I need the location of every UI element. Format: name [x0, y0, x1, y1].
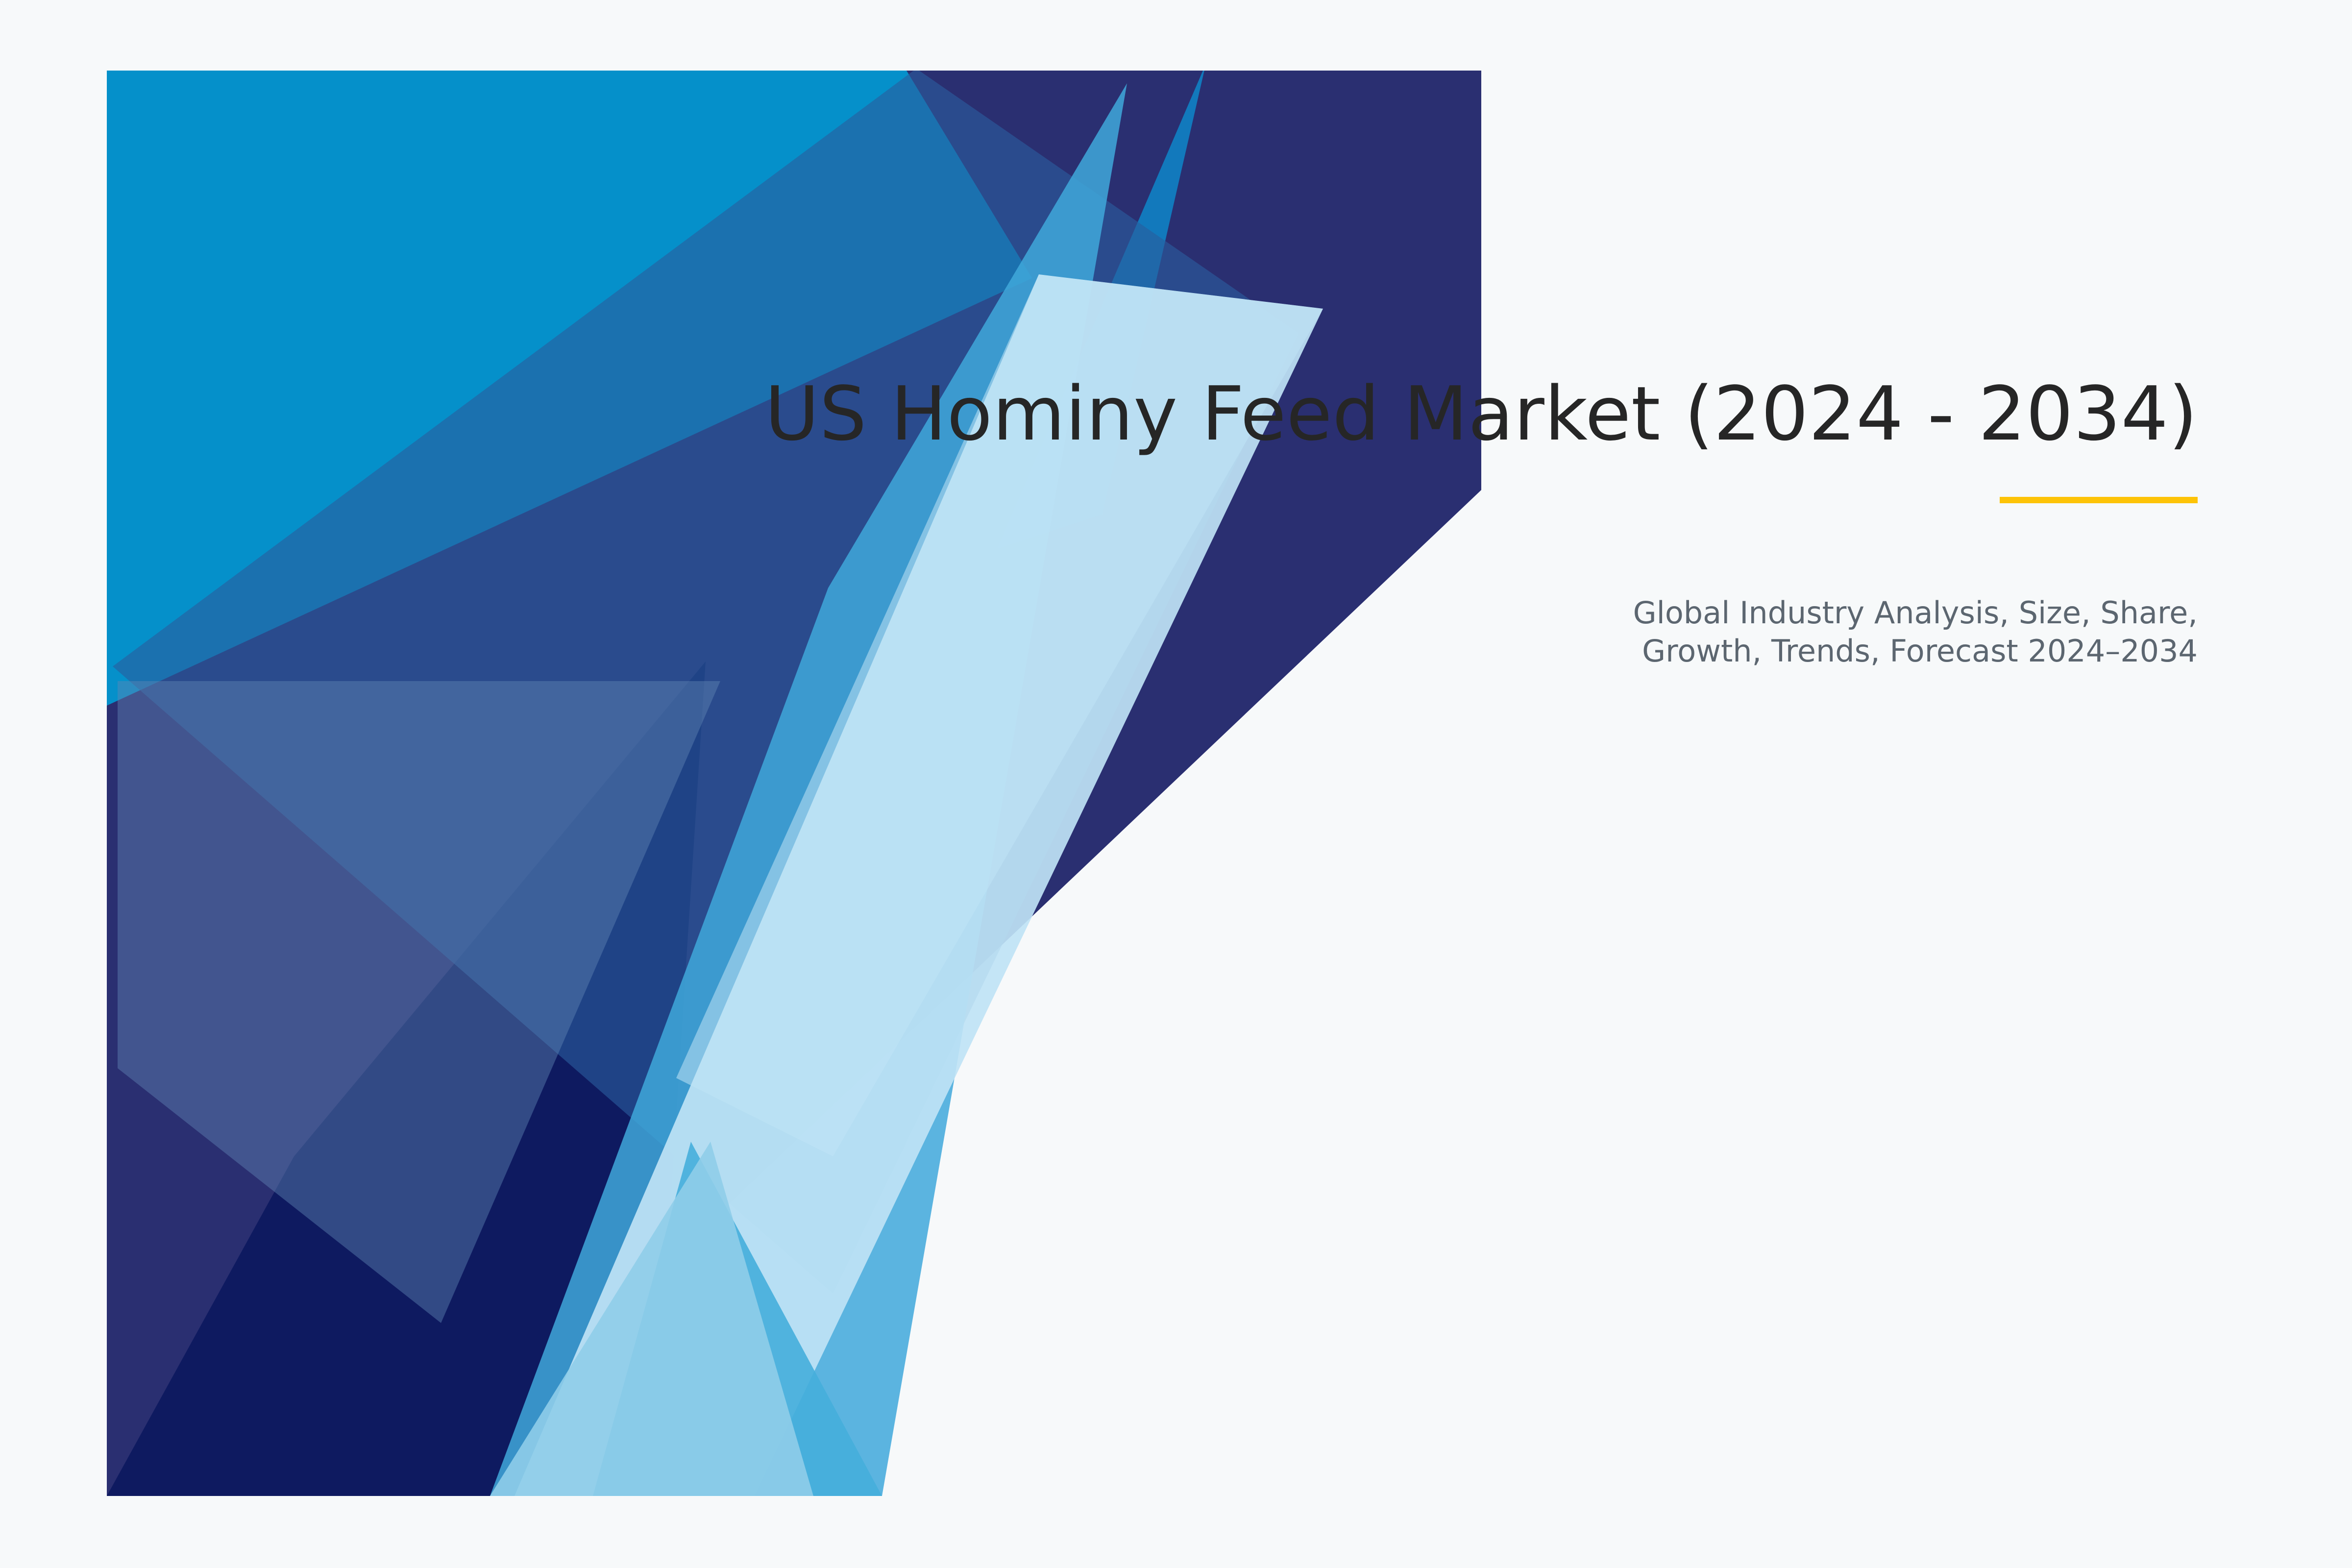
accent-rule [2000, 497, 2198, 503]
shape-navy-band [107, 71, 1481, 1496]
accent-rule-container [735, 497, 2198, 503]
shape-deep-navy-lower [107, 661, 706, 1496]
shape-sky-blue-ribbon [490, 83, 1127, 1496]
page-title: US Hominy Feed Market (2024 - 2034) [735, 372, 2198, 456]
shape-steel-blue-quad [113, 69, 1298, 1294]
shape-navy-top-right [906, 71, 1481, 343]
cover-text-block: US Hominy Feed Market (2024 - 2034) Glob… [735, 372, 2198, 670]
shape-lower-pale-accent [490, 1142, 813, 1496]
shape-steel-overlay-left [118, 681, 720, 1323]
page-subtitle: Global Industry Analysis, Size, Share, G… [1561, 594, 2198, 670]
abstract-geometric-cover-graphic [0, 0, 2352, 1568]
report-cover-slide: US Hominy Feed Market (2024 - 2034) Glob… [0, 0, 2352, 1568]
shape-lower-sky-accent [593, 1142, 882, 1496]
